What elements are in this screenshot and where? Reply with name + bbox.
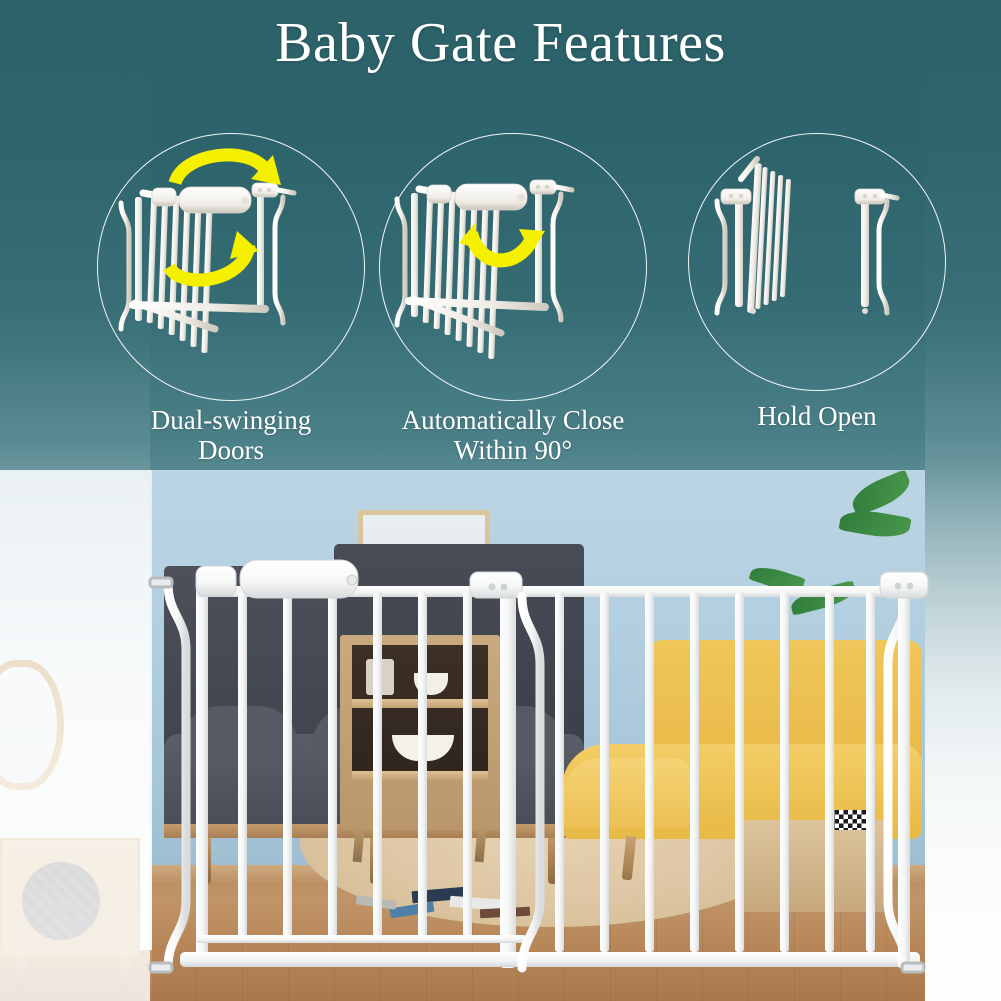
rotation-arrow-clockwise xyxy=(175,155,281,185)
wooden-shelf-unit xyxy=(340,635,500,830)
sofa-leg xyxy=(370,838,381,884)
feature-label: Hold Open xyxy=(661,401,973,431)
baby-gate-dual-swing-icon xyxy=(97,133,365,401)
sofa-leg xyxy=(200,838,211,884)
feature-label: Automatically Close Within 90° xyxy=(357,405,669,465)
feature-label-line1: Hold Open xyxy=(757,401,876,431)
yellow-sofa-arm xyxy=(562,758,692,828)
page-title: Baby Gate Features xyxy=(0,14,1001,73)
yellow-sofa-leg xyxy=(622,836,637,881)
shelf-plank xyxy=(352,699,488,708)
feature-label-line1: Dual-swinging xyxy=(151,405,311,435)
checker-pattern xyxy=(830,810,868,830)
yellow-sofa-backrest xyxy=(648,640,922,760)
feature-label: Dual-swinging Doors xyxy=(75,405,387,465)
shelf-ornament xyxy=(366,659,394,695)
feature-row: Dual-swinging Doors xyxy=(0,133,1001,463)
feature-automatically-close[interactable]: Automatically Close Within 90° xyxy=(379,133,647,463)
shelf-plank xyxy=(352,771,488,780)
sofa-leg xyxy=(548,838,559,884)
baby-gate-auto-close-icon xyxy=(379,133,647,401)
feature-label-line1: Automatically Close xyxy=(402,405,625,435)
feature-label-line2: Doors xyxy=(198,435,264,465)
room-photo xyxy=(150,470,925,1001)
rotation-arrow-counter-clockwise xyxy=(169,231,259,280)
sofa-cushion xyxy=(180,706,298,766)
feature-label-line2: Within 90° xyxy=(454,435,572,465)
feature-hold-open[interactable]: Hold Open xyxy=(683,133,951,463)
baby-gate-hold-open-icon xyxy=(683,133,951,401)
wooden-box xyxy=(738,820,888,912)
feature-dual-swinging-doors[interactable]: Dual-swinging Doors xyxy=(97,133,365,463)
infographic-page: Baby Gate Features xyxy=(0,0,1001,1001)
